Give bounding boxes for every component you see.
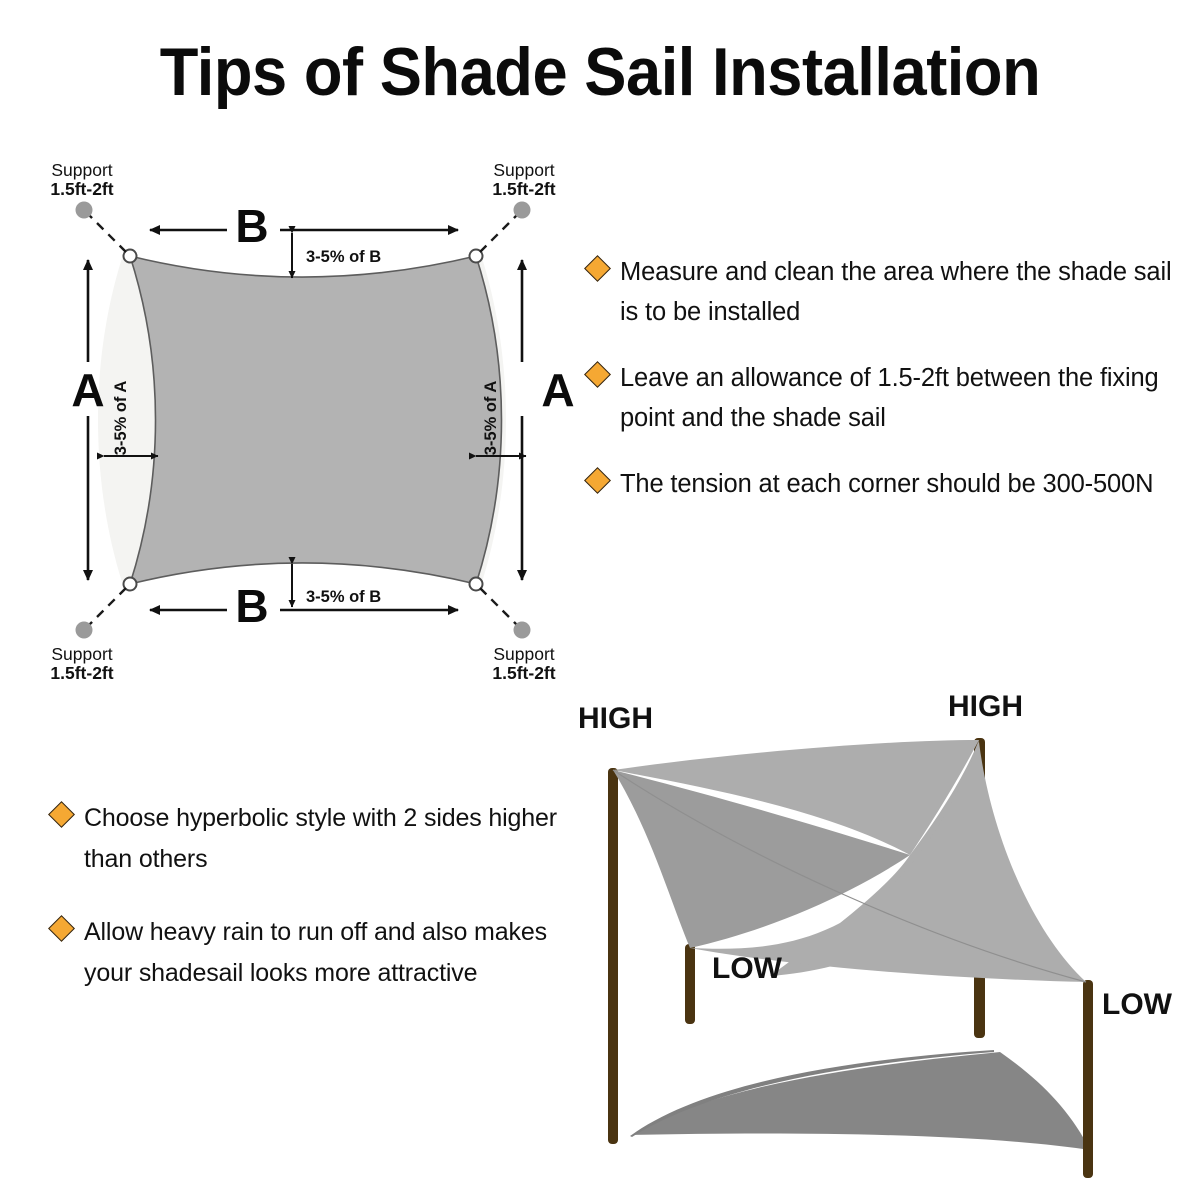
label-low-front: LOW [712, 952, 783, 985]
tether-top-right [480, 214, 518, 252]
tether-bottom-right [480, 588, 518, 626]
tip-text: Choose hyperbolic style with 2 sides hig… [84, 798, 592, 880]
tip-text: Leave an allowance of 1.5-2ft between th… [620, 358, 1173, 438]
tip-text: Measure and clean the area where the sha… [620, 252, 1173, 332]
label-high-right: HIGH [948, 690, 1023, 723]
label-low-right: LOW [1102, 988, 1173, 1021]
diamond-bullet-icon [48, 801, 75, 828]
support-dot-top-left [76, 202, 93, 219]
support-label-bottom-left-line1: Support [51, 644, 112, 664]
tether-top-left [88, 214, 126, 252]
list-item: Leave an allowance of 1.5-2ft between th… [588, 358, 1173, 438]
support-dot-top-right [514, 202, 531, 219]
hyperbolic-shade-sail-illustration: HIGH HIGH LOW LOW [570, 680, 1200, 1200]
dim-label-a-left: A [71, 364, 104, 416]
curvature-label-bottom: 3-5% of B [306, 588, 381, 606]
tip-text: Allow heavy rain to run off and also mak… [84, 912, 592, 994]
support-dot-bottom-right [514, 622, 531, 639]
diamond-bullet-icon [584, 467, 611, 494]
list-item: Measure and clean the area where the sha… [588, 252, 1173, 332]
dim-label-b-top: B [235, 200, 268, 252]
post-front-low [685, 944, 695, 1024]
list-item: Allow heavy rain to run off and also mak… [52, 912, 592, 994]
diamond-bullet-icon [584, 361, 611, 388]
diamond-bullet-icon [48, 915, 75, 942]
list-item: Choose hyperbolic style with 2 sides hig… [52, 798, 592, 880]
support-label-bottom-right-line2: 1.5ft-2ft [492, 663, 555, 680]
tether-bottom-left [88, 588, 126, 626]
tip-text: The tension at each corner should be 300… [620, 464, 1153, 504]
page-title: Tips of Shade Sail Installation [42, 34, 1158, 110]
dim-label-b-bottom: B [235, 580, 268, 632]
support-dot-bottom-left [76, 622, 93, 639]
support-label-top-right-line1: Support [493, 160, 554, 180]
post-right-low [1083, 980, 1093, 1178]
support-label-top-left-line1: Support [51, 160, 112, 180]
support-label-bottom-right-line1: Support [493, 644, 554, 664]
list-item: The tension at each corner should be 300… [588, 464, 1173, 504]
post-left-high [608, 768, 618, 1144]
shade-sail-dimensions-diagram: Support 1.5ft-2ft Support 1.5ft-2ft Supp… [30, 150, 630, 680]
support-label-bottom-left-line2: 1.5ft-2ft [50, 663, 113, 680]
tips-list-right: Measure and clean the area where the sha… [588, 252, 1173, 504]
sail-fabric [130, 256, 502, 584]
support-label-top-left-line2: 1.5ft-2ft [50, 179, 113, 199]
support-label-top-right-line2: 1.5ft-2ft [492, 179, 555, 199]
curvature-label-right: 3-5% of A [482, 381, 500, 456]
curvature-label-top: 3-5% of B [306, 248, 381, 266]
dim-label-a-right: A [541, 364, 574, 416]
curvature-label-left: 3-5% of A [112, 381, 130, 456]
infographic-page: Tips of Shade Sail Installation [0, 0, 1200, 1200]
tips-list-left: Choose hyperbolic style with 2 sides hig… [52, 798, 592, 1026]
diamond-bullet-icon [584, 255, 611, 282]
label-high-left: HIGH [578, 702, 653, 735]
